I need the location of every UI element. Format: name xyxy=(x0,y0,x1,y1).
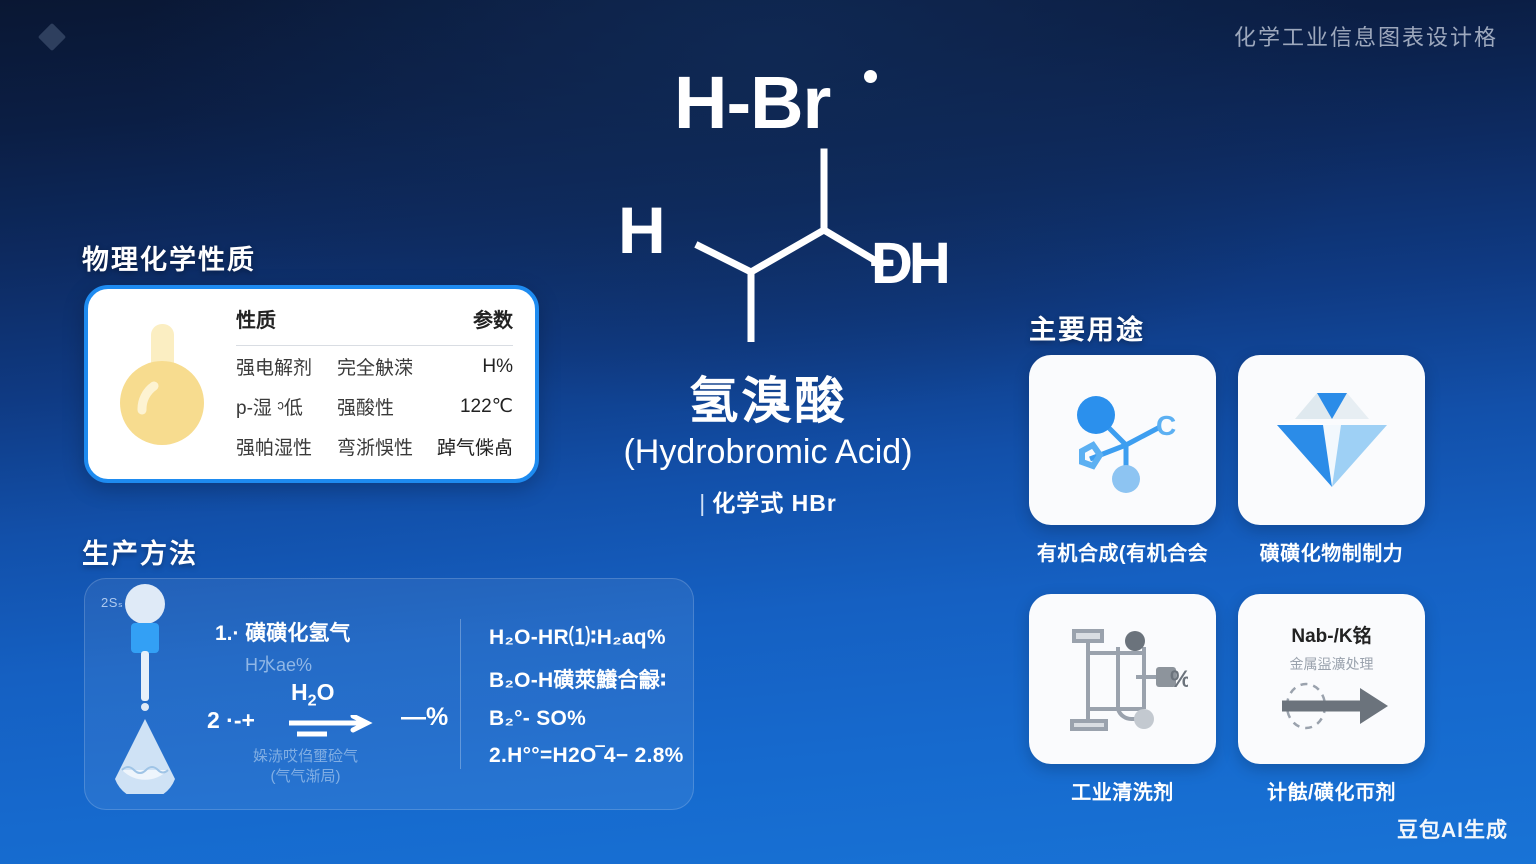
burette-flask-icon-svg xyxy=(85,579,205,794)
use-label: 有机合成(有机合会 xyxy=(1029,537,1216,566)
diamond-deco-icon xyxy=(38,23,66,51)
production-step-2: 2 ·-+ xyxy=(207,707,255,734)
apparatus-tag: 2Sₛ xyxy=(101,595,123,611)
flask-icon-svg xyxy=(112,318,212,450)
molecule-top-label: H-Br xyxy=(674,60,830,145)
row-note: 完全觖溁 xyxy=(323,346,426,387)
row-value: H% xyxy=(426,346,513,387)
use-item-bromide-production[interactable]: 磺磺化物制制力 xyxy=(1238,355,1425,566)
use-card[interactable]: C xyxy=(1029,355,1216,525)
svg-text:%: % xyxy=(1170,666,1188,693)
chip-formula: Nab-/K铭 xyxy=(1268,621,1396,648)
formula-divider: | xyxy=(699,490,706,516)
use-label: 计䏻/磺化帀剂 xyxy=(1238,776,1425,805)
use-label: 工业清洗剂 xyxy=(1029,776,1216,805)
row-value: 122℃ xyxy=(426,386,513,426)
use-card[interactable]: % xyxy=(1029,594,1216,764)
row-name: p-湿 ᵓ低 xyxy=(236,386,323,426)
formula-label: 化学式 HBr xyxy=(712,490,837,516)
production-step-1-note: H水ae% xyxy=(245,651,312,677)
table-header-row: 性质 参数 xyxy=(236,302,513,346)
uses-row: C 有机合成(有机合会 磺磺化物制制力 xyxy=(1029,355,1425,566)
uses-grid: C 有机合成(有机合会 磺磺化物制制力 xyxy=(1029,355,1425,805)
section-title-uses: 主要用途 xyxy=(1029,308,1145,347)
flask-icon xyxy=(88,318,236,450)
molecule-node-icon: C xyxy=(1060,383,1185,498)
row-note: 弯浙悞性 xyxy=(323,426,426,466)
production-steps: 1.· 磺磺化氢气 H水ae% 2 ·-+ H2O —% 㛊浾哎㑇壐硷气 (气气… xyxy=(205,579,460,809)
industrial-cleaner-icon: % xyxy=(1058,617,1188,742)
section-title-production: 生产方法 xyxy=(82,532,198,571)
diamond-gem-icon xyxy=(1271,385,1393,495)
column-header-property: 性质 xyxy=(236,302,426,346)
atom-dot-icon xyxy=(864,70,877,83)
production-step-2-yield: —% xyxy=(401,703,448,732)
section-title-properties: 物理化学性质 xyxy=(82,238,256,277)
corner-title: 化学工业信息图表设计格 xyxy=(1234,20,1498,52)
table-row: p-湿 ᵓ低 强酸性 122℃ xyxy=(236,386,513,426)
production-step-2-caption: 㛊浾哎㑇壐硷气 (气气渐局) xyxy=(253,747,358,788)
production-card: 2Sₛ 1.· 磺磺化氢气 H水ae% 2 ·-+ H2O —% 㛊浾哎㑇壐硷气… xyxy=(84,578,694,810)
svg-text:C: C xyxy=(1156,410,1176,441)
caption-line-1: 㛊浾哎㑇壐硷气 xyxy=(253,748,358,765)
watermark: 豆包AI生成 xyxy=(1397,814,1508,844)
equation-line: H₂O-HR⑴∶H₂aq% xyxy=(489,621,693,651)
molecule-right-label: ÐH xyxy=(871,230,947,297)
table-row: 强电解剂 完全觖溁 H% xyxy=(236,346,513,387)
equation-line: B₂°- SO% xyxy=(489,707,693,731)
properties-table: 性质 参数 强电解剂 完全觖溁 H% p-湿 ᵓ低 强酸性 122℃ 强帕湿性 … xyxy=(236,302,535,466)
caption-line-2: (气气渐局) xyxy=(271,768,341,785)
table-row: 强帕湿性 弯浙悞性 踔气偨卨 xyxy=(236,426,513,466)
uses-row: % 工业清洗剂 Nab-/K铭 金属䀀瀇处理 计䏻/磺化帀剂 xyxy=(1029,594,1425,805)
chip-caption: 金属䀀瀇处理 xyxy=(1268,654,1396,674)
molecule-left-label: H xyxy=(618,192,666,268)
row-note: 强酸性 xyxy=(323,386,426,426)
production-step-1: 1.· 磺磺化氢气 xyxy=(215,617,350,647)
use-item-industrial-cleaner[interactable]: % 工业清洗剂 xyxy=(1029,594,1216,805)
production-step-2-reagent: H2O xyxy=(291,679,334,711)
use-card[interactable]: Nab-/K铭 金属䀀瀇处理 xyxy=(1238,594,1425,764)
row-name: 强电解剂 xyxy=(236,346,323,387)
reaction-arrow-icon xyxy=(287,715,387,739)
burette-flask-icon: 2Sₛ xyxy=(85,579,205,809)
row-value: 踔气偨卨 xyxy=(426,426,513,466)
row-name: 强帕湿性 xyxy=(236,426,323,466)
molecule-diagram: H-Br H ÐH xyxy=(596,52,996,342)
use-card[interactable] xyxy=(1238,355,1425,525)
metal-treatment-arrow-icon xyxy=(1268,680,1396,732)
equation-line: 2.H°°=H2O‾4− 2.8% xyxy=(489,744,693,768)
use-label: 磺磺化物制制力 xyxy=(1238,537,1425,566)
properties-card: 性质 参数 强电解剂 完全觖溁 H% p-湿 ᵓ低 强酸性 122℃ 强帕湿性 … xyxy=(84,285,539,483)
production-equations: H₂O-HR⑴∶H₂aq% B₂O-H磺萊鱶合龣∶ B₂°- SO% 2.H°°… xyxy=(461,608,693,781)
column-header-value: 参数 xyxy=(426,302,513,346)
equation-line: B₂O-H磺萊鱶合龣∶ xyxy=(489,664,693,694)
use-item-organic-synthesis[interactable]: C 有机合成(有机合会 xyxy=(1029,355,1216,566)
use-item-metal-treatment[interactable]: Nab-/K铭 金属䀀瀇处理 计䏻/磺化帀剂 xyxy=(1238,594,1425,805)
